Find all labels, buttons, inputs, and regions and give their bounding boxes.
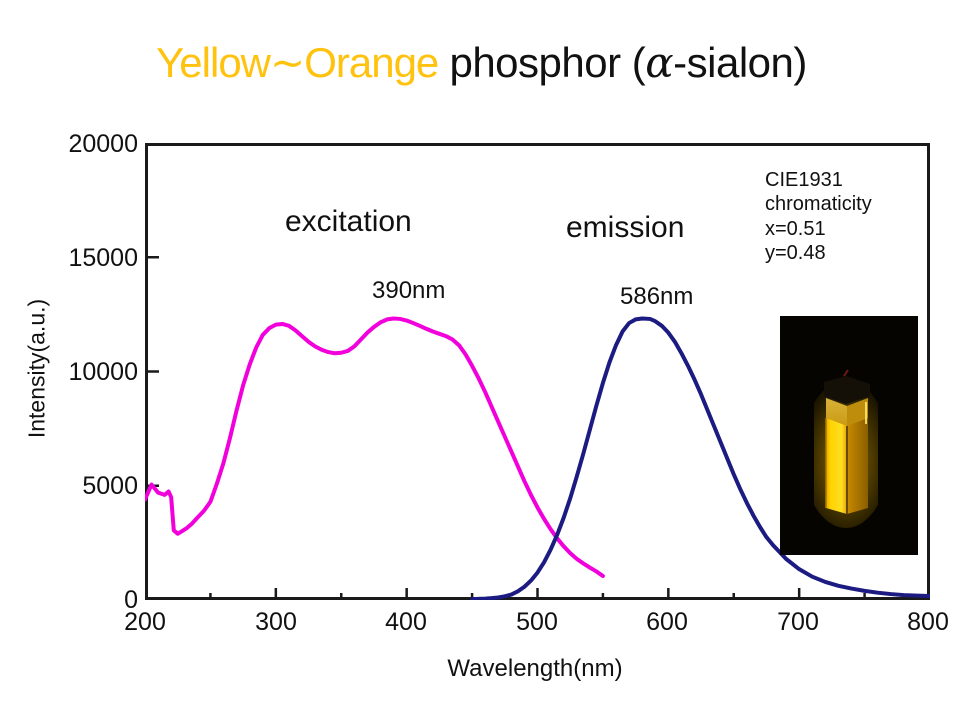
plot-area: 20000 15000 10000 5000 0 Intensity(a.u.)…: [0, 0, 963, 708]
excitation-curve: [145, 318, 603, 576]
cie-standard: CIE1931: [765, 168, 872, 192]
cuvette-illustration: [814, 368, 878, 528]
x-tick-800: 800: [868, 608, 963, 637]
emission-label: emission: [566, 211, 684, 245]
x-tick-700: 700: [738, 608, 858, 637]
cie-chromaticity-block: CIE1931 chromaticity x=0.51 y=0.48: [765, 168, 872, 266]
axis-tickmarks: [145, 257, 865, 600]
x-tick-600: 600: [607, 608, 727, 637]
x-axis-title: Wavelength(nm): [285, 655, 785, 683]
cie-x-value: x=0.51: [765, 217, 872, 241]
emission-peak-label: 586nm: [620, 283, 693, 311]
x-tick-300: 300: [216, 608, 336, 637]
y-axis-title: Intensity(a.u.): [24, 244, 51, 494]
x-tick-500: 500: [477, 608, 597, 637]
x-tick-400: 400: [346, 608, 466, 637]
y-tick-20000: 20000: [18, 130, 138, 159]
x-tick-200: 200: [85, 608, 205, 637]
phosphor-photo-inset: [780, 316, 918, 555]
excitation-peak-label: 390nm: [372, 277, 445, 305]
excitation-label: excitation: [285, 205, 412, 239]
cie-chromaticity-word: chromaticity: [765, 192, 872, 216]
chart-page: Yellow∼Orange phosphor (α-sialon) 20000 …: [0, 0, 963, 708]
cie-y-value: y=0.48: [765, 241, 872, 265]
